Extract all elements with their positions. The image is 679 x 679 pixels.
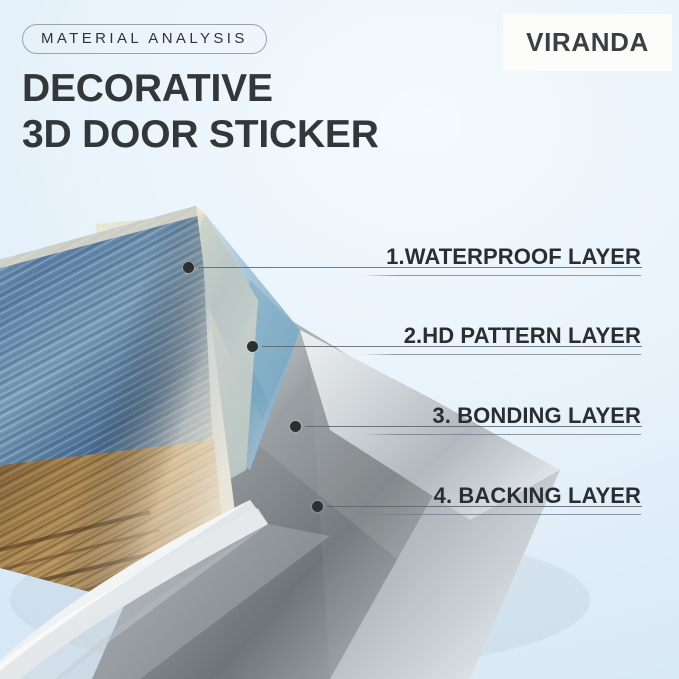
page-title-line-1: DECORATIVE — [22, 67, 273, 110]
layer-dot-4 — [312, 501, 323, 512]
layer-dot-3 — [290, 421, 301, 432]
page-title-line-2: 3D DOOR STICKER — [22, 112, 379, 158]
material-analysis-infographic: MATERIAL ANALYSIS DECORATIVE 3D DOOR STI… — [0, 0, 679, 679]
layer-dot-1 — [183, 262, 194, 273]
layer-rule-4 — [362, 514, 641, 515]
layer-rule-1 — [362, 275, 641, 276]
brand-logo: VIRANDA — [503, 14, 672, 71]
brand-logo-text: VIRANDA — [526, 27, 649, 58]
layer-leader-1 — [198, 267, 642, 268]
layer-rule-3 — [362, 434, 641, 435]
layer-leader-2 — [262, 346, 642, 347]
layer-leader-3 — [305, 426, 642, 427]
layer-dot-2 — [247, 341, 258, 352]
badge-material-analysis: MATERIAL ANALYSIS — [22, 24, 267, 54]
layer-rule-2 — [362, 354, 641, 355]
page-title: DECORATIVE 3D DOOR STICKER — [22, 66, 379, 158]
layer-leader-4 — [327, 506, 642, 507]
